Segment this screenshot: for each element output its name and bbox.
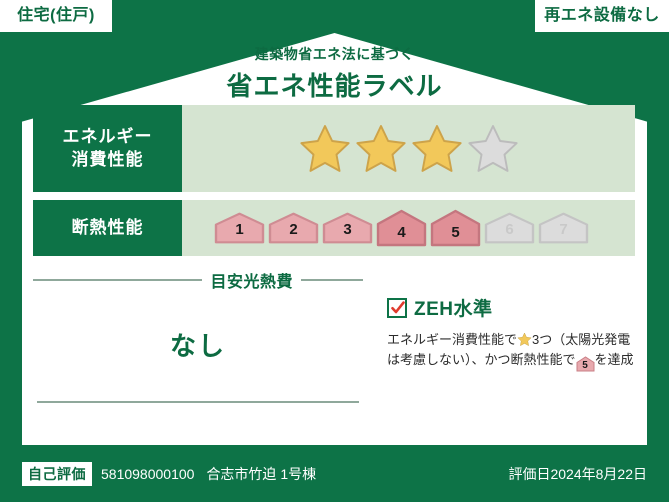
zeh-block: ZEH水準 エネルギー消費性能で 3つ（太陽光発電 は考慮しない）、かつ断熱性能… (363, 266, 635, 403)
star-filled-icon (299, 123, 351, 175)
insulation-performance-row: 断熱性能 1234567 (33, 200, 635, 256)
utility-cost-block: 目安光熱費 なし (33, 266, 363, 403)
insulation-grade-value: 1 (235, 222, 243, 244)
energy-label-line1: エネルギー (63, 126, 153, 149)
evaluation-type-badge: 自己評価 (22, 462, 92, 486)
energy-label-line2: 消費性能 (72, 149, 144, 172)
energy-performance-label-box: エネルギー 消費性能 (33, 105, 182, 192)
zeh-checkbox[interactable] (387, 298, 407, 318)
evaluation-date: 評価日2024年8月22日 (508, 464, 647, 484)
divider-line-right (301, 279, 363, 281)
energy-performance-row: エネルギー 消費性能 (33, 105, 635, 192)
utility-cost-value: なし (33, 292, 363, 401)
label-footer: 自己評価 581098000100 合志市竹迫 1号棟 評価日2024年8月22… (22, 445, 647, 502)
zeh-heading: ZEH水準 (387, 294, 635, 321)
insulation-grade-value: 3 (343, 222, 351, 244)
zeh-desc-part3: を達成 (595, 352, 634, 367)
insulation-label: 断熱性能 (72, 217, 144, 240)
inline-star-icon (517, 332, 532, 347)
insulation-grade-value: 7 (559, 222, 567, 244)
insulation-grade-4: 4 (376, 209, 427, 247)
insulation-grade-7: 7 (538, 212, 589, 244)
divider-line-left (33, 279, 202, 281)
inline-insulation-house-icon: 5 (576, 356, 595, 372)
zeh-title: ZEH水準 (414, 294, 493, 321)
inline-house-value: 5 (576, 356, 595, 375)
zeh-description: エネルギー消費性能で 3つ（太陽光発電 は考慮しない）、かつ断熱性能で 5 を達… (387, 330, 635, 372)
insulation-grade-value: 5 (451, 225, 459, 247)
insulation-grade-scale: 1234567 (182, 200, 635, 256)
star-rating (182, 105, 635, 192)
insulation-grade-3: 3 (322, 212, 373, 244)
zeh-desc-part2: は考慮しない）、かつ断熱性能で (387, 352, 576, 367)
renewable-equipment-tab: 再エネ設備なし (535, 0, 669, 32)
star-empty-icon (467, 123, 519, 175)
insulation-grade-1: 1 (214, 212, 265, 244)
property-address: 合志市竹迫 1号棟 (206, 464, 316, 484)
insulation-grade-value: 2 (289, 222, 297, 244)
insulation-grade-2: 2 (268, 212, 319, 244)
star-filled-icon (355, 123, 407, 175)
insulation-grade-value: 4 (397, 225, 405, 247)
insulation-grade-6: 6 (484, 212, 535, 244)
insulation-grade-5: 5 (430, 209, 481, 247)
zeh-desc-star-count: 3つ（太陽光発電 (532, 332, 630, 347)
energy-performance-label: 住宅(住戸) 再エネ設備なし 建築物省エネ法に基づく 省エネ性能ラベル エネルギ… (0, 0, 669, 502)
insulation-performance-label-box: 断熱性能 (33, 200, 182, 256)
lower-section: 目安光熱費 なし ZEH水準 エネルギー消費性能で (33, 266, 635, 403)
utility-cost-heading: 目安光熱費 (33, 268, 363, 292)
star-filled-icon (411, 123, 463, 175)
utility-cost-bottom-line (37, 401, 359, 403)
label-content: エネルギー 消費性能 断熱性能 1234567 目安光熱費 なし (33, 105, 635, 403)
checkmark-icon (390, 300, 406, 316)
building-type-tab: 住宅(住戸) (0, 0, 112, 32)
label-id: 581098000100 (101, 466, 194, 482)
insulation-grade-value: 6 (505, 222, 513, 244)
utility-cost-title: 目安光熱費 (210, 268, 293, 292)
zeh-desc-part1: エネルギー消費性能で (387, 332, 517, 347)
